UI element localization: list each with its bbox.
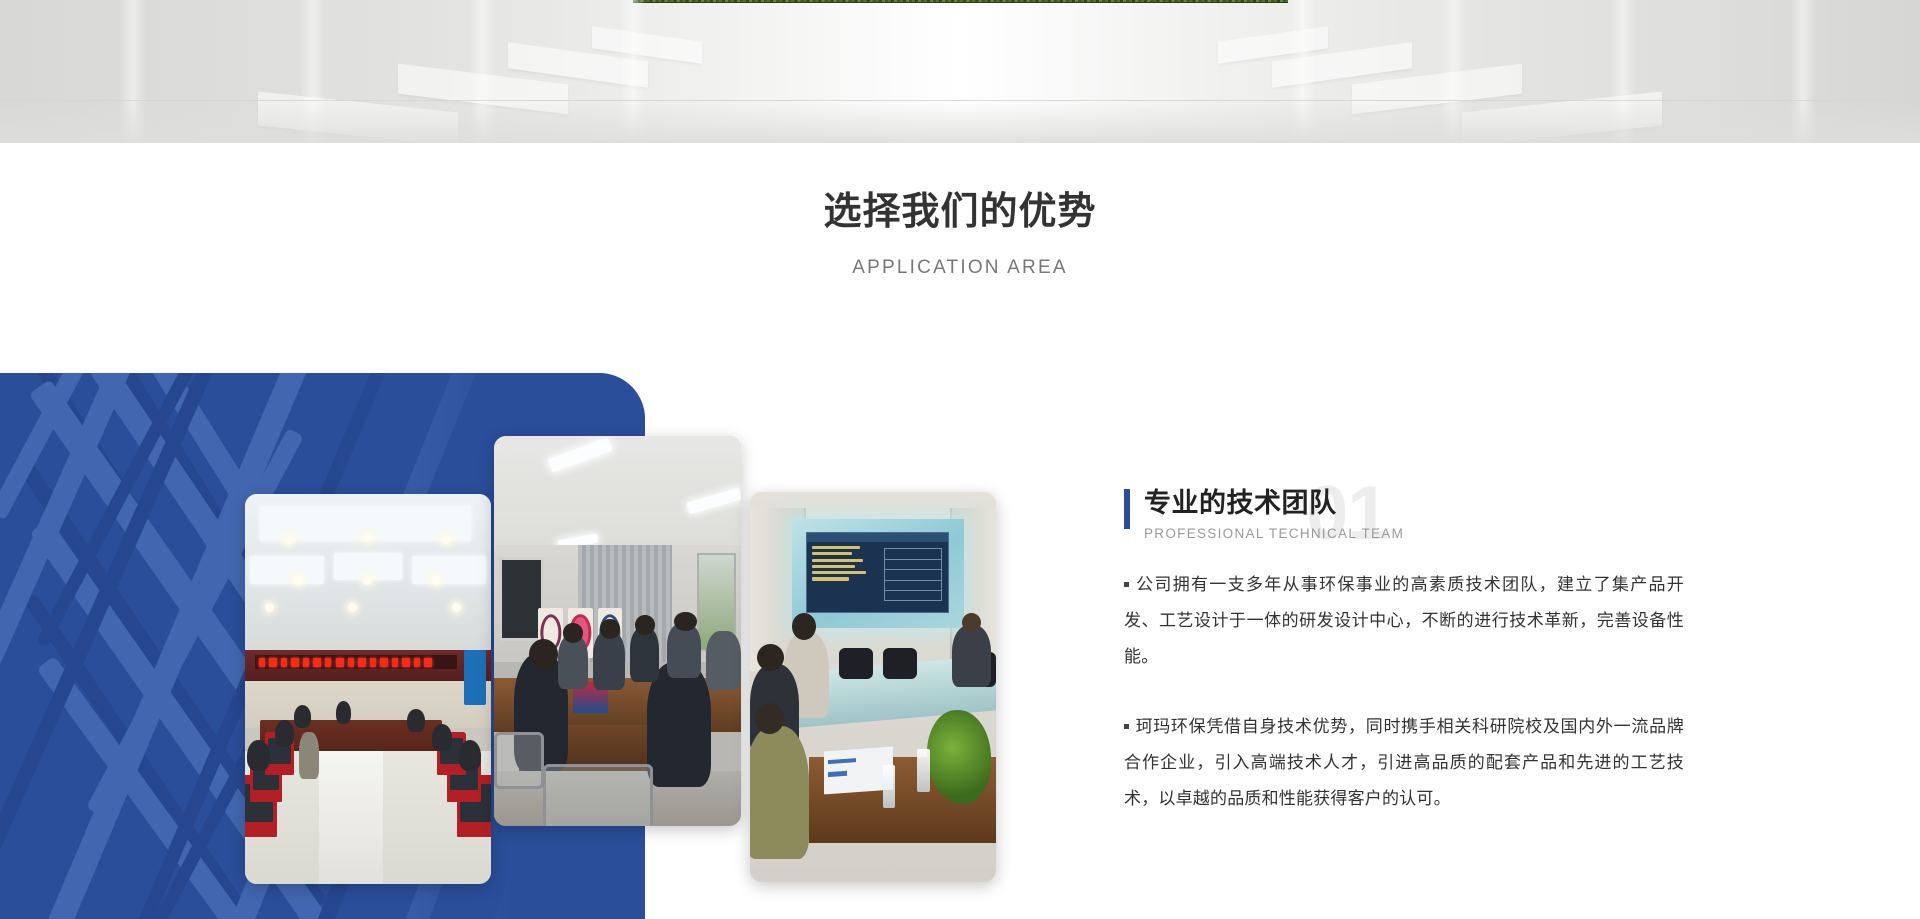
hero-banner: [0, 0, 1920, 143]
feature-content: 01 专业的技术团队 PROFESSIONAL TECHNICAL TEAM 公…: [1124, 485, 1684, 817]
meeting-room-photo: [494, 436, 741, 826]
bullet-icon: [1124, 724, 1129, 729]
feature-title: 专业的技术团队: [1144, 485, 1337, 521]
banner-floor: [0, 100, 1920, 143]
feature-subtitle: PROFESSIONAL TECHNICAL TEAM: [1144, 526, 1404, 541]
feature-paragraph-text: 珂玛环保凭借自身技术优势，同时携手相关科研院校及国内外一流品牌合作企业，引入高端…: [1124, 717, 1684, 808]
projector-screen: [792, 519, 964, 628]
section-header: 选择我们的优势 APPLICATION AREA: [0, 190, 1920, 279]
feature-paragraph: 公司拥有一支多年从事环保事业的高素质技术团队，建立了集产品开发、工艺设计于一体的…: [1124, 567, 1684, 675]
led-banner: [255, 655, 457, 669]
feature-heading: 01 专业的技术团队 PROFESSIONAL TECHNICAL TEAM: [1124, 485, 1684, 557]
feature-body: 公司拥有一支多年从事环保事业的高素质技术团队，建立了集产品开发、工艺设计于一体的…: [1124, 567, 1684, 817]
accent-bar: [1124, 489, 1130, 529]
section-subtitle: APPLICATION AREA: [0, 257, 1920, 279]
section-title: 选择我们的优势: [0, 190, 1920, 236]
feature-paragraph: 珂玛环保凭借自身技术优势，同时携手相关科研院校及国内外一流品牌合作企业，引入高端…: [1124, 709, 1684, 817]
projector-meeting-photo: [750, 492, 996, 882]
bullet-icon: [1124, 582, 1129, 587]
conference-hall-photo: [245, 494, 491, 884]
feature-paragraph-text: 公司拥有一支多年从事环保事业的高素质技术团队，建立了集产品开发、工艺设计于一体的…: [1124, 575, 1684, 666]
